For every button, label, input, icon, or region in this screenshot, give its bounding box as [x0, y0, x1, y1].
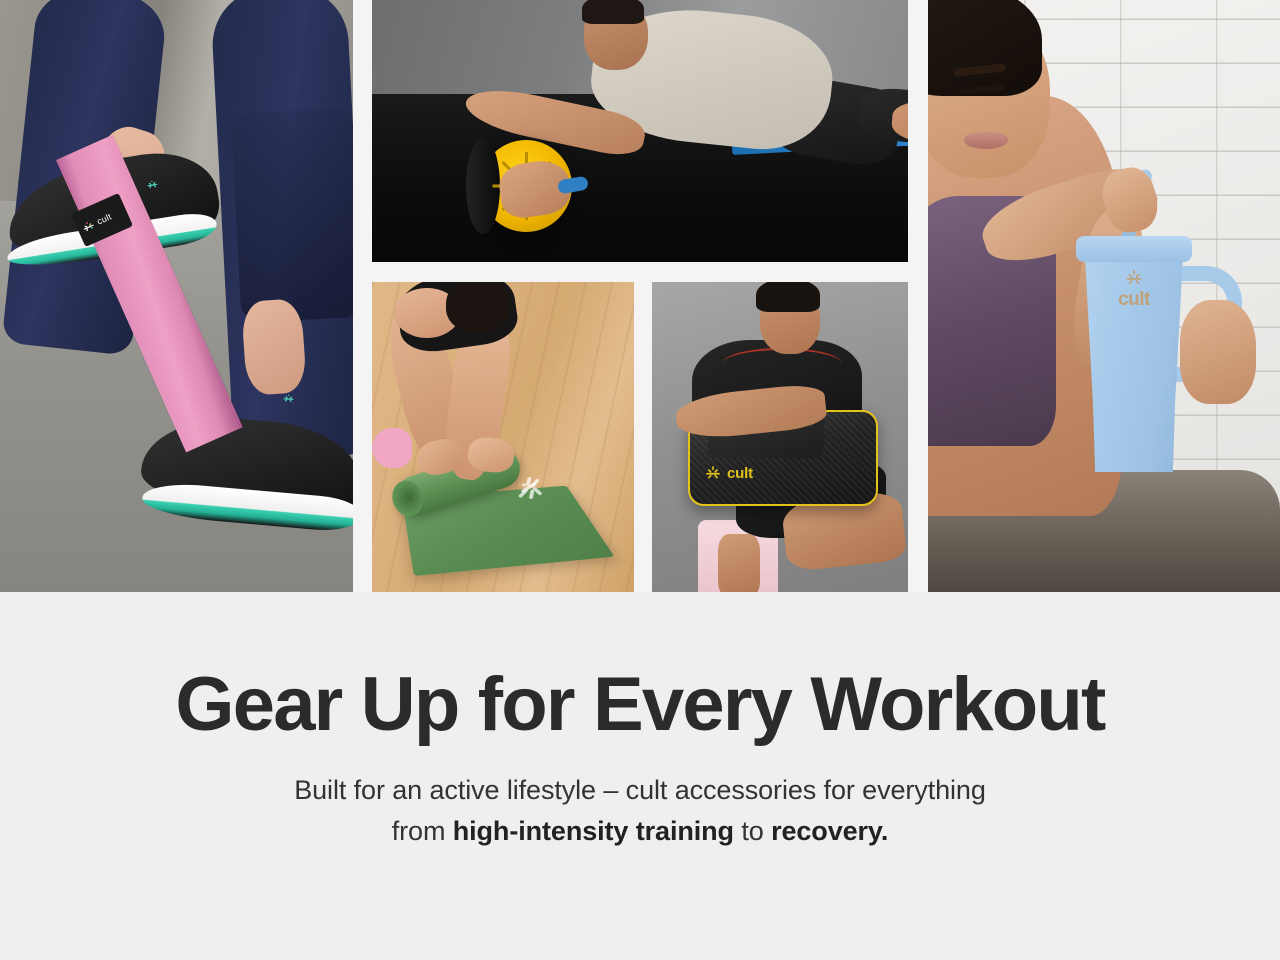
subcopy-emphasis-recovery: recovery.: [771, 816, 888, 846]
tumbler-lid: [1076, 236, 1192, 262]
cult-starburst-icon: [704, 464, 722, 482]
subcopy-emphasis-training: high-intensity training: [453, 816, 734, 846]
model-lips: [964, 132, 1008, 149]
model-head: [446, 282, 510, 332]
brand-label: cult: [727, 465, 753, 482]
subcopy-line-2: from high-intensity training to recovery…: [0, 811, 1280, 853]
model-hair: [928, 0, 1042, 96]
cult-starburst-icon: [1124, 268, 1144, 288]
model-hair: [756, 282, 820, 312]
brand-label: cult: [1118, 289, 1150, 311]
promo-banner: cult: [0, 0, 1280, 960]
pink-prop: [372, 428, 412, 468]
model-ankle-lower: [241, 298, 307, 396]
subcopy-line-1: Built for an active lifestyle – cult acc…: [0, 770, 1280, 812]
subcopy-middle: to: [734, 816, 771, 846]
page-title: Gear Up for Every Workout: [0, 666, 1280, 744]
legging-mesh-panel: [231, 107, 353, 323]
banner-subcopy: Built for an active lifestyle – cult acc…: [0, 770, 1280, 854]
banner-copy-block: Gear Up for Every Workout Built for an a…: [0, 592, 1280, 960]
cult-starburst-icon: [79, 217, 97, 235]
collage-tile-tumbler[interactable]: cult: [928, 0, 1280, 592]
cult-starburst-icon: [281, 392, 295, 408]
collage-tile-yoga-mat[interactable]: [372, 282, 634, 592]
subcopy-prefix: from: [392, 816, 453, 846]
product-image-collage: cult: [0, 0, 1280, 592]
brand-label: cult: [95, 211, 113, 226]
model-hand-gripping-handle: [1180, 300, 1256, 404]
tumbler-brand-logo: cult: [1106, 268, 1162, 311]
model-shin: [718, 534, 760, 592]
cult-starburst-icon: [145, 177, 160, 194]
duffle-bag-brand-logo: cult: [704, 464, 753, 482]
collage-tile-ab-wheel[interactable]: [372, 0, 908, 262]
collage-tile-duffle-bag[interactable]: cult: [652, 282, 908, 592]
model-hair: [582, 0, 644, 24]
collage-tile-resistance-band[interactable]: cult: [0, 0, 353, 592]
